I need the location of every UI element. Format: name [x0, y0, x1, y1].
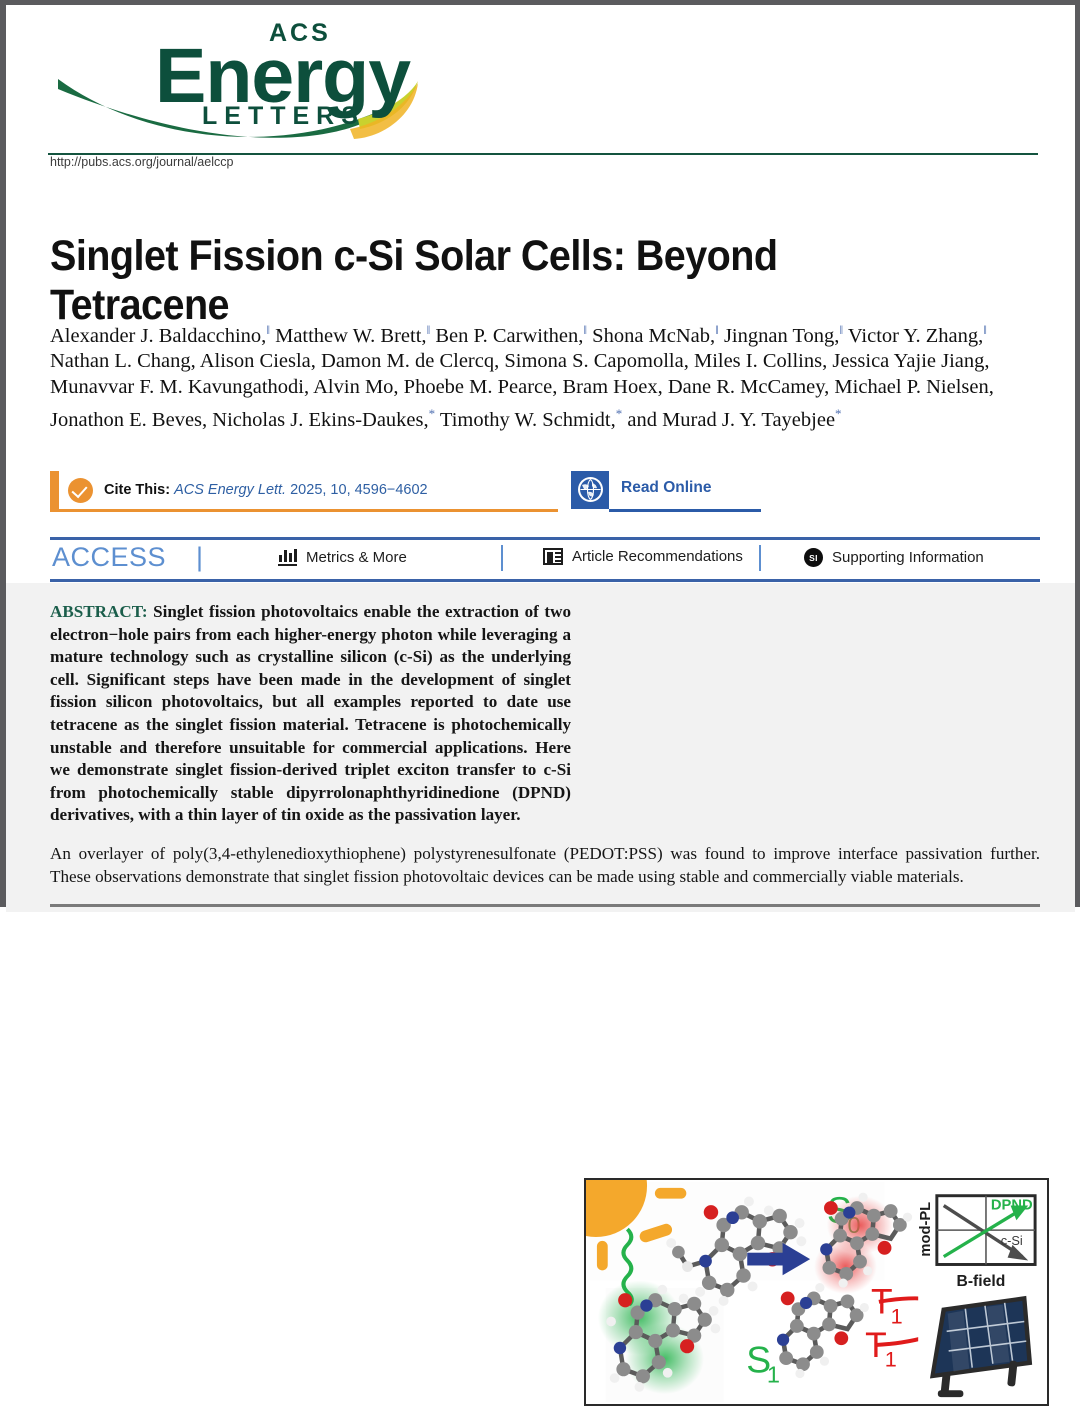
- abstract-heading: ABSTRACT:: [50, 602, 148, 621]
- abstract-body-column: Singlet fission photovoltaics enable the…: [50, 602, 571, 824]
- graphical-abstract-svg: S 0: [586, 1180, 1047, 1404]
- author-name: Jingnan Tong,: [719, 325, 840, 347]
- access-separator: [759, 545, 761, 571]
- globe-icon: [571, 471, 609, 509]
- journal-logo: ACS Energy LETTERS: [106, 15, 436, 140]
- author-corresponding-marker: *: [429, 406, 436, 421]
- article-recommendations-label: Article Recommendations: [572, 548, 743, 565]
- author-name: Matthew W. Brett,: [270, 325, 427, 347]
- author-name: and Murad J. Y. Tayebjee: [622, 408, 835, 430]
- si-badge-icon: SI: [804, 548, 823, 567]
- access-bar-bottom-rule: [50, 579, 1040, 582]
- cite-this-label: Cite This:: [104, 482, 170, 498]
- globe-circle: [578, 477, 603, 502]
- journal-url[interactable]: http://pubs.acs.org/journal/aelccp: [50, 155, 233, 169]
- author-name: Ben P. Carwithen,: [430, 325, 583, 347]
- access-label[interactable]: ACCESS: [52, 542, 166, 573]
- logo-letters-text: LETTERS: [202, 102, 365, 131]
- article-recommendations-button[interactable]: Article Recommendations: [543, 548, 743, 565]
- metrics-and-more-label: Metrics & More: [306, 549, 407, 566]
- label-t1-upper-subscript: 1: [891, 1303, 903, 1328]
- abstract-column: ABSTRACT: Singlet fission photovoltaics …: [50, 601, 571, 827]
- read-online-underline: [609, 509, 761, 512]
- author-marker: ‖: [839, 322, 843, 337]
- label-t1-lower-subscript: 1: [885, 1347, 897, 1372]
- cite-reference[interactable]: ACS Energy Lett. 2025, 10, 4596−4602: [174, 482, 428, 498]
- inset-x-axis-label: B-field: [957, 1273, 1006, 1290]
- cite-volume-pages: 2025, 10, 4596−4602: [286, 482, 428, 498]
- article-icon: [543, 548, 563, 565]
- supporting-information-button[interactable]: SI Supporting Information: [804, 548, 984, 567]
- author-corresponding-marker: *: [835, 406, 842, 421]
- bar-chart-icon: [278, 548, 297, 566]
- cite-journal-name: ACS Energy Lett.: [174, 482, 286, 498]
- cite-this-box[interactable]: Cite This: ACS Energy Lett. 2025, 10, 45…: [50, 471, 558, 509]
- page-title: Singlet Fission c-Si Solar Cells: Beyond…: [50, 232, 906, 330]
- globe-glyph-icon: [578, 477, 603, 502]
- author-list: Alexander J. Baldacchino,‖ Matthew W. Br…: [50, 317, 1045, 433]
- supporting-information-label: Supporting Information: [832, 549, 984, 566]
- inset-legend-csi: c-Si: [1001, 1233, 1023, 1248]
- author-name: Victor Y. Zhang,: [848, 325, 983, 347]
- cite-read-row: Cite This: ACS Energy Lett. 2025, 10, 45…: [50, 471, 1040, 519]
- journal-masthead: ACS Energy LETTERS: [48, 11, 1038, 161]
- read-online-button[interactable]: Read Online: [571, 471, 761, 509]
- access-separator: [501, 545, 503, 571]
- author-marker: ‖: [983, 322, 987, 337]
- author-name: Shona McNab,: [587, 325, 715, 347]
- metrics-and-more-button[interactable]: Metrics & More: [278, 548, 407, 566]
- access-divider: |: [196, 542, 203, 573]
- solar-panel-icon: [918, 1290, 1036, 1397]
- check-circle-icon: [68, 478, 93, 503]
- abstract-continuation: An overlayer of poly(3,4-ethylenedioxyth…: [50, 843, 1040, 888]
- access-bar: ACCESS | Metrics & More Article Recommen…: [50, 540, 1040, 580]
- cite-underline: [50, 509, 558, 512]
- author-name: Nathan L. Chang, Alison Ciesla, Damon M.…: [50, 350, 689, 372]
- article-page: ACS Energy LETTERS http://pubs.acs.org/j…: [0, 0, 1080, 907]
- abstract-block: ABSTRACT: Singlet fission photovoltaics …: [6, 583, 1075, 912]
- label-s1-subscript: 1: [767, 1361, 780, 1387]
- inset-legend-dpnd: DPND: [991, 1197, 1033, 1213]
- read-online-label: Read Online: [621, 479, 711, 497]
- author-name: Alexander J. Baldacchino,: [50, 325, 266, 347]
- graphical-abstract: S 0: [584, 1178, 1049, 1406]
- inset-y-axis-label: mod-PL: [918, 1202, 934, 1257]
- author-name: Timothy W. Schmidt,: [440, 408, 616, 430]
